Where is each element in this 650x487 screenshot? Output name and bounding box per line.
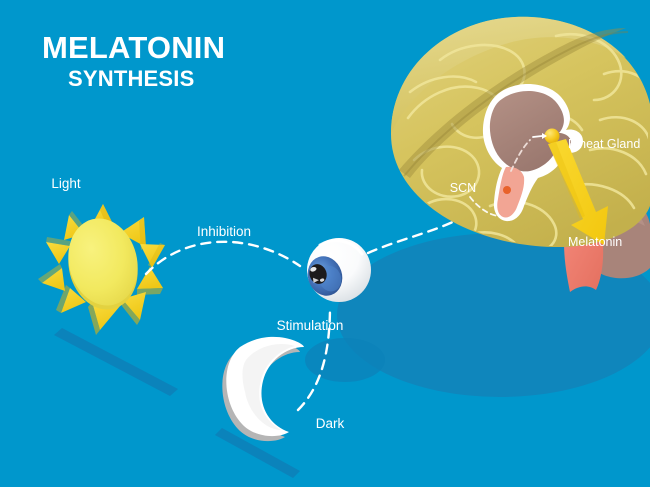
melatonin-synthesis-infographic: MELATONIN SYNTHESIS (0, 0, 650, 487)
infographic-canvas: MELATONIN SYNTHESIS (0, 0, 650, 487)
label-light: Light (51, 176, 81, 191)
label-pineal-gland: Pineat Gland (568, 137, 640, 151)
label-stimulation: Stimulation (277, 318, 344, 333)
label-scn: SCN (450, 181, 476, 195)
eye-ground-shadow (305, 338, 385, 382)
scn-dot (503, 186, 511, 194)
page-title-sub: SYNTHESIS (68, 66, 195, 91)
page-title-main: MELATONIN (42, 30, 225, 65)
label-dark: Dark (316, 416, 345, 431)
label-inhibition: Inhibition (197, 224, 251, 239)
label-melatonin: Melatonin (568, 235, 622, 249)
